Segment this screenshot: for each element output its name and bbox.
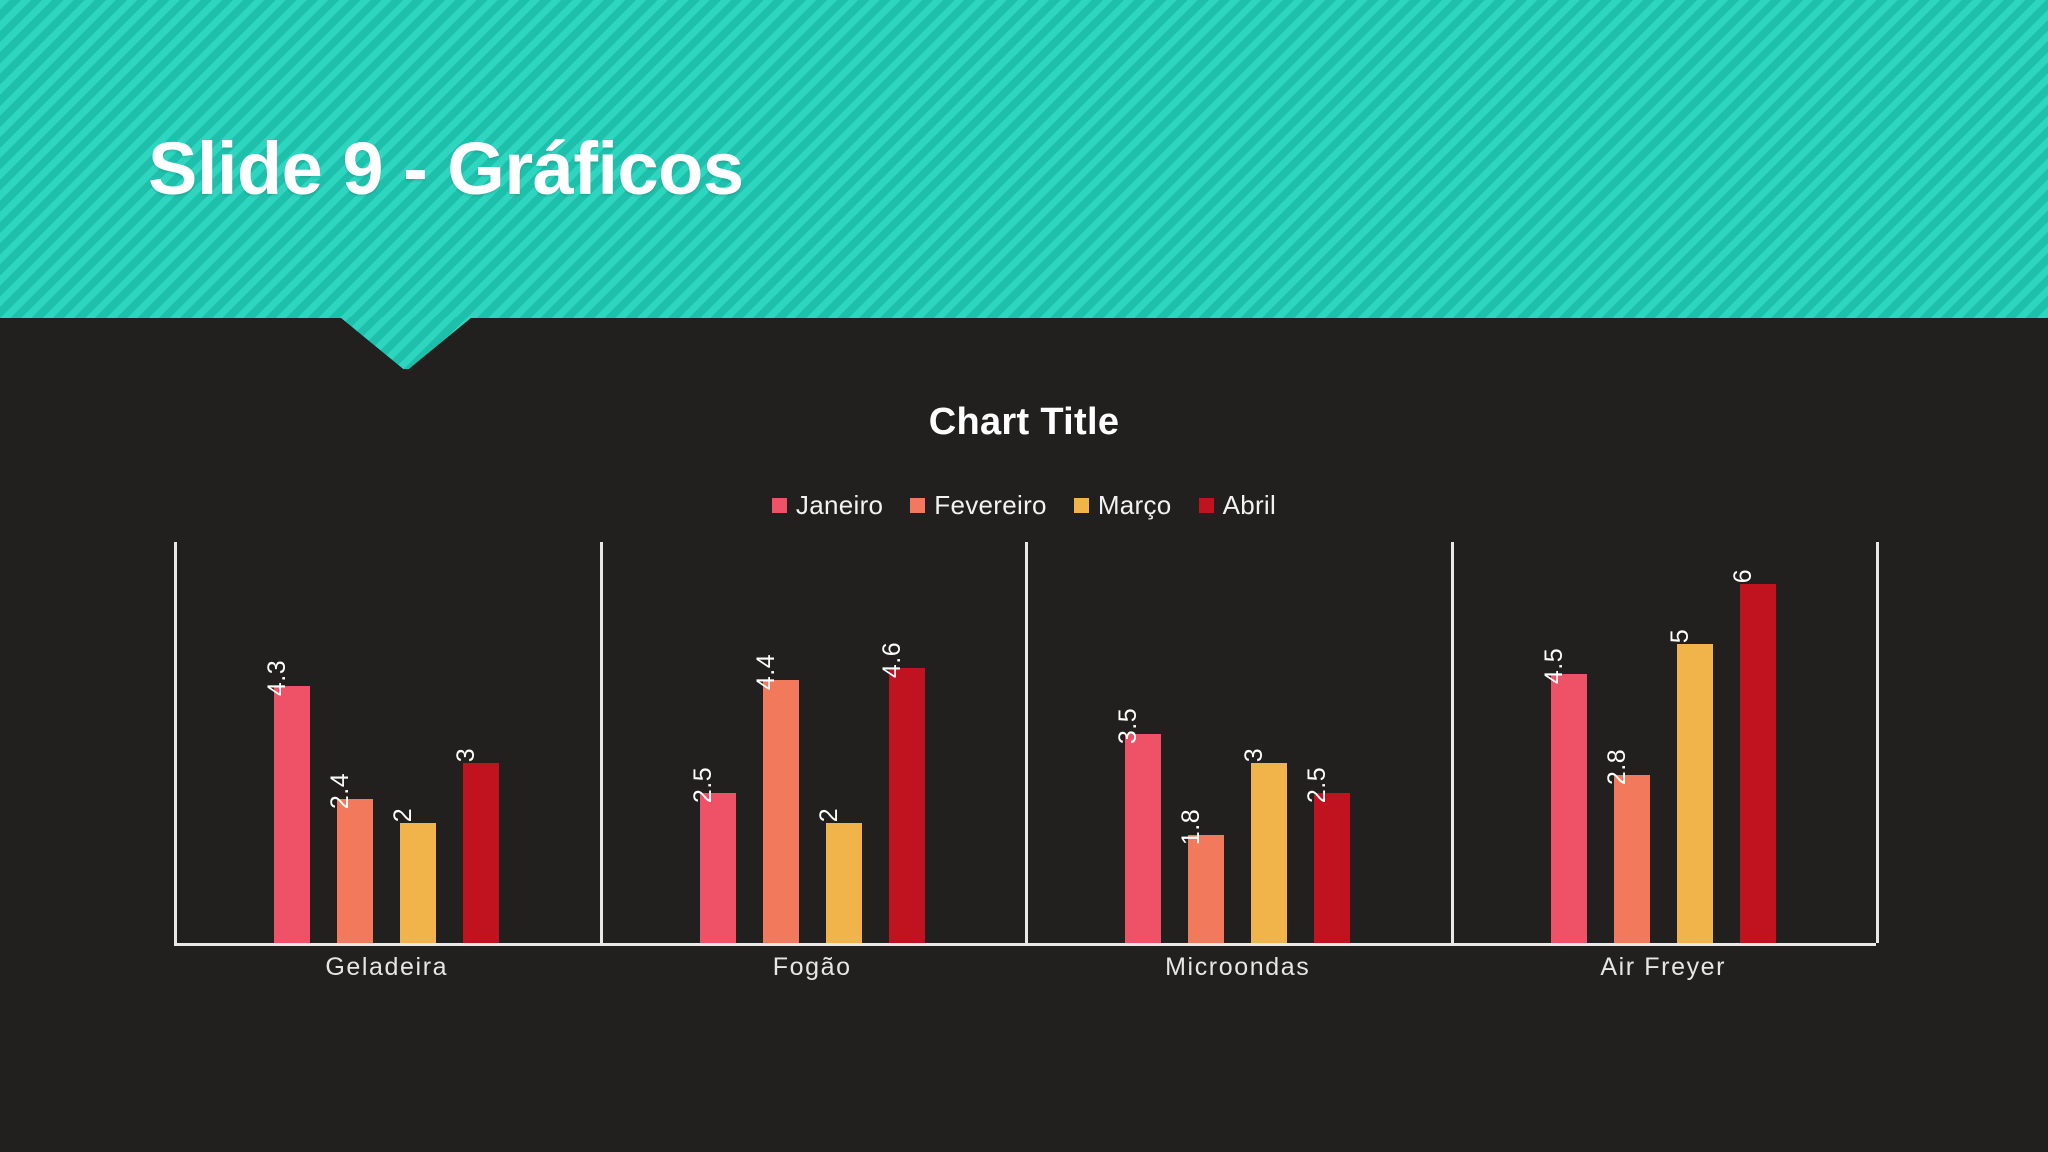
slide-title: Slide 9 - Gráficos	[148, 132, 744, 206]
legend-label: Janeiro	[796, 490, 883, 521]
category-axis-label: Fogão	[600, 953, 1026, 982]
category-axis-label: Air Freyer	[1451, 953, 1877, 982]
bar-value-label: 3	[452, 748, 481, 762]
bar-value-label: 2	[389, 808, 418, 822]
bar-value-label: 4.3	[263, 660, 292, 696]
bar[interactable]	[1314, 793, 1350, 943]
bar[interactable]	[700, 793, 736, 943]
category-axis-label: Geladeira	[174, 953, 600, 982]
bar[interactable]	[1740, 584, 1776, 943]
bar-column: 3	[463, 542, 499, 943]
slide-canvas: Slide 9 - Gráficos Chart Title JaneiroFe…	[0, 0, 2048, 1152]
bar[interactable]	[274, 686, 310, 943]
legend-item-março[interactable]: Março	[1074, 490, 1172, 521]
bar-column: 2.8	[1614, 542, 1650, 943]
category-axis-label: Microondas	[1025, 953, 1451, 982]
bar-group: 4.52.856Air Freyer	[1451, 542, 1877, 943]
legend-label: Abril	[1223, 490, 1277, 521]
bar-column: 6	[1740, 542, 1776, 943]
bar-column: 1.8	[1188, 542, 1224, 943]
bar[interactable]	[1125, 734, 1161, 943]
legend-label: Março	[1098, 490, 1172, 521]
bar[interactable]	[337, 799, 373, 943]
bar-group-bars: 4.52.856	[1451, 542, 1877, 943]
bar[interactable]	[1188, 835, 1224, 943]
chart-container: Chart Title JaneiroFevereiroMarçoAbril 4…	[0, 318, 2048, 1152]
bar-group: 4.32.423Geladeira	[174, 542, 600, 943]
bar-value-label: 1.8	[1177, 809, 1206, 845]
x-axis-line	[174, 943, 1876, 946]
bar[interactable]	[1551, 674, 1587, 943]
legend-item-fevereiro[interactable]: Fevereiro	[910, 490, 1047, 521]
bar-column: 4.6	[889, 542, 925, 943]
bar-value-label: 4.6	[878, 642, 907, 678]
bar-column: 4.4	[763, 542, 799, 943]
bar-column: 4.3	[274, 542, 310, 943]
bar[interactable]	[1251, 763, 1287, 943]
bar-value-label: 5	[1666, 629, 1695, 643]
chart-title: Chart Title	[0, 401, 2048, 444]
bar[interactable]	[463, 763, 499, 943]
bar-column: 2	[826, 542, 862, 943]
legend-swatch-icon	[1074, 498, 1089, 513]
bar-value-label: 2	[815, 808, 844, 822]
bar-value-label: 2.8	[1603, 749, 1632, 785]
legend-label: Fevereiro	[934, 490, 1047, 521]
bar-value-label: 3.5	[1114, 707, 1143, 743]
bar-column: 3.5	[1125, 542, 1161, 943]
bar[interactable]	[826, 823, 862, 943]
plot-right-border	[1876, 542, 1879, 943]
bar-column: 2	[400, 542, 436, 943]
chart-legend: JaneiroFevereiroMarçoAbril	[0, 490, 2048, 521]
bar-group-bars: 2.54.424.6	[600, 542, 1026, 943]
bar-column: 2.4	[337, 542, 373, 943]
legend-item-abril[interactable]: Abril	[1199, 490, 1277, 521]
legend-swatch-icon	[1199, 498, 1214, 513]
legend-item-janeiro[interactable]: Janeiro	[772, 490, 883, 521]
bar-value-label: 4.4	[752, 654, 781, 690]
bar[interactable]	[400, 823, 436, 943]
bar-group: 2.54.424.6Fogão	[600, 542, 1026, 943]
bar-column: 2.5	[1314, 542, 1350, 943]
bar-value-label: 2.4	[326, 773, 355, 809]
bar-group-bars: 3.51.832.5	[1025, 542, 1451, 943]
bar-column: 2.5	[700, 542, 736, 943]
bar-value-label: 4.5	[1540, 648, 1569, 684]
bar[interactable]	[889, 668, 925, 943]
bar[interactable]	[763, 680, 799, 943]
bar-column: 3	[1251, 542, 1287, 943]
bar-value-label: 3	[1240, 748, 1269, 762]
bar-column: 4.5	[1551, 542, 1587, 943]
bar[interactable]	[1677, 644, 1713, 943]
chart-plot-area: 4.32.423Geladeira2.54.424.6Fogão3.51.832…	[174, 542, 1876, 943]
bar-value-label: 2.5	[1303, 767, 1332, 803]
bar-group-bars: 4.32.423	[174, 542, 600, 943]
legend-swatch-icon	[772, 498, 787, 513]
bar-value-label: 6	[1729, 569, 1758, 583]
legend-swatch-icon	[910, 498, 925, 513]
bar-group: 3.51.832.5Microondas	[1025, 542, 1451, 943]
bar[interactable]	[1614, 775, 1650, 943]
bar-value-label: 2.5	[689, 767, 718, 803]
bar-column: 5	[1677, 542, 1713, 943]
